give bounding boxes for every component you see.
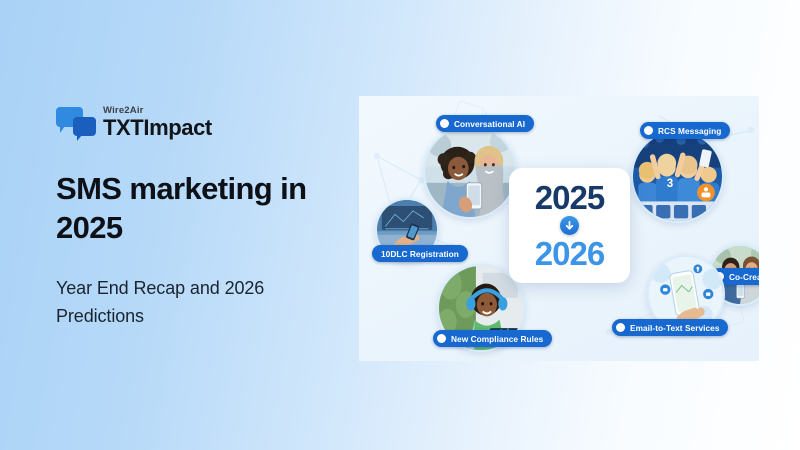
to-year: 2026 bbox=[535, 237, 604, 271]
badge-label: New Compliance Rules bbox=[451, 334, 543, 344]
bullet-dot-icon bbox=[437, 334, 446, 343]
bullet-dot-icon bbox=[644, 126, 653, 135]
badge-conversational-ai[interactable]: Conversational AI bbox=[436, 115, 534, 132]
brand-logo[interactable]: Wire2Air TXTImpact bbox=[56, 96, 356, 140]
badge-rcs-messaging[interactable]: RCS Messaging bbox=[640, 122, 730, 139]
year-transition-card: 2025 2026 bbox=[509, 168, 630, 283]
badge-label: 10DLC Registration bbox=[381, 249, 459, 259]
brand-name: TXTImpact bbox=[103, 116, 212, 140]
bullet-dot-icon bbox=[616, 323, 625, 332]
illustration-panel: Conversational AI bbox=[359, 96, 759, 361]
bullet-dot-icon bbox=[440, 119, 449, 128]
brand-wordmark: Wire2Air TXTImpact bbox=[103, 105, 212, 140]
badge-label: RCS Messaging bbox=[658, 126, 721, 136]
speech-bubbles-icon bbox=[56, 106, 96, 140]
hero-text-column: Wire2Air TXTImpact SMS marketing in 2025… bbox=[56, 96, 356, 330]
topic-photo-rcs-messaging: 3 bbox=[631, 130, 724, 223]
badge-email-to-text[interactable]: Email-to-Text Services bbox=[612, 319, 728, 336]
from-year: 2025 bbox=[535, 181, 604, 215]
badge-new-compliance-rules[interactable]: New Compliance Rules bbox=[433, 330, 552, 347]
svg-text:3: 3 bbox=[667, 178, 674, 190]
badge-10dlc-registration[interactable]: 10DLC Registration bbox=[372, 245, 468, 262]
badge-label: Email-to-Text Services bbox=[630, 323, 719, 333]
slide-canvas: Wire2Air TXTImpact SMS marketing in 2025… bbox=[0, 0, 800, 450]
topic-photo-conversational-ai bbox=[423, 125, 517, 219]
speech-bubble-dark bbox=[73, 117, 96, 136]
page-subtitle: Year End Recap and 2026 Predictions bbox=[56, 274, 356, 330]
badge-label: Co-Creation bbox=[729, 272, 759, 282]
badge-label: Conversational AI bbox=[454, 119, 525, 129]
arrow-down-circle-icon bbox=[560, 216, 579, 235]
page-title: SMS marketing in 2025 bbox=[56, 169, 346, 247]
